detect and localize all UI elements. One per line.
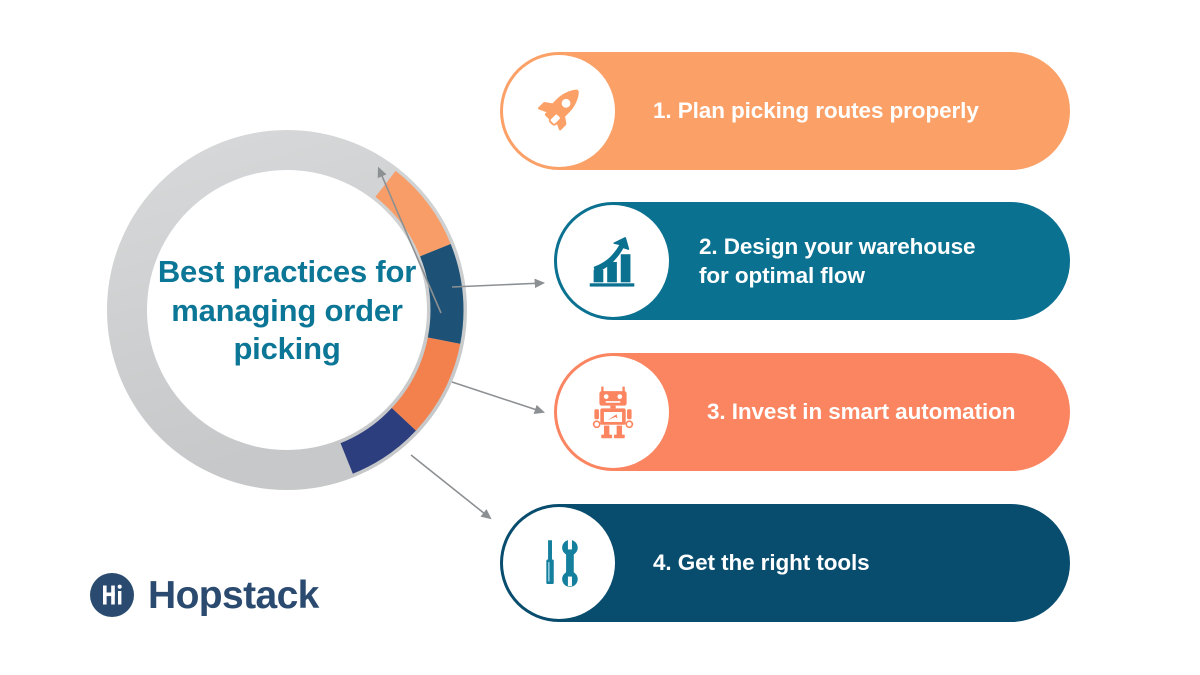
hopstack-logo[interactable]: Hopstack bbox=[90, 573, 319, 617]
card-2-label-line-2: for optimal flow bbox=[699, 261, 975, 290]
hopstack-logo-mark-icon bbox=[90, 573, 134, 617]
card-4-label: 4. Get the right tools bbox=[653, 548, 870, 577]
rocket-icon bbox=[529, 81, 589, 141]
card-2-label-line-1: 2. Design your warehouse bbox=[699, 232, 975, 261]
robot-icon bbox=[584, 383, 642, 441]
growth-chart-icon bbox=[582, 230, 644, 292]
card-3-icon-circle bbox=[557, 356, 669, 468]
card-4-icon-circle bbox=[503, 507, 615, 619]
card-2-icon-circle bbox=[557, 205, 669, 317]
card-1-label: 1. Plan picking routes properly bbox=[653, 96, 979, 125]
card-smart-automation[interactable]: 3. Invest in smart automation bbox=[554, 353, 1070, 471]
hopstack-wordmark: Hopstack bbox=[148, 576, 319, 615]
card-3-label: 3. Invest in smart automation bbox=[707, 397, 1015, 426]
card-design-warehouse[interactable]: 2. Design your warehouse for optimal flo… bbox=[554, 202, 1070, 320]
card-1-icon-circle bbox=[503, 55, 615, 167]
donut-center-label: Best practices for managing order pickin… bbox=[157, 186, 417, 436]
card-get-right-tools[interactable]: 4. Get the right tools bbox=[500, 504, 1070, 622]
card-2-label: 2. Design your warehouse for optimal flo… bbox=[699, 232, 975, 291]
donut-center-text: Best practices for managing order pickin… bbox=[157, 253, 417, 369]
infographic-canvas: Best practices for managing order pickin… bbox=[0, 0, 1200, 675]
donut-chart: Best practices for managing order pickin… bbox=[97, 120, 477, 500]
tools-icon bbox=[531, 535, 587, 591]
card-plan-picking-routes[interactable]: 1. Plan picking routes properly bbox=[500, 52, 1070, 170]
